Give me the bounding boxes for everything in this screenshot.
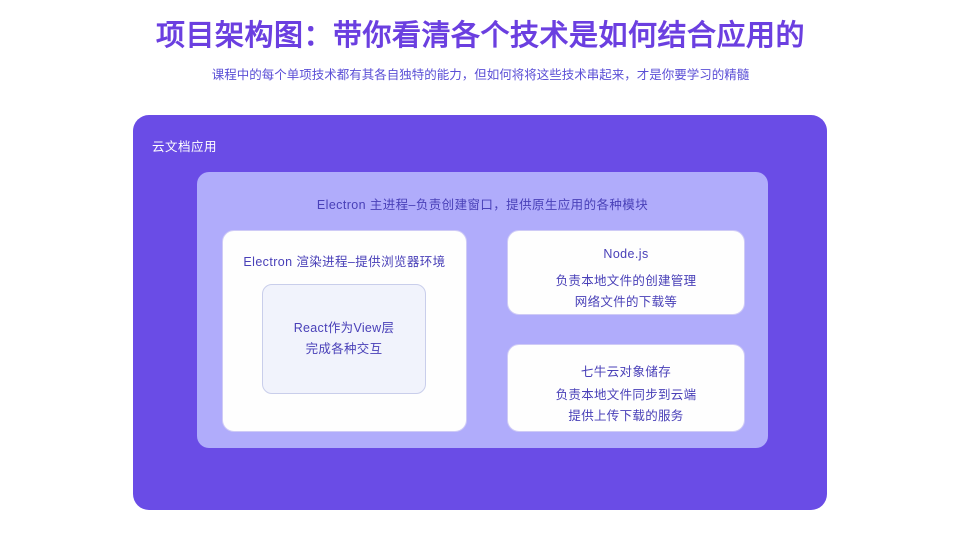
nodejs-card-body: 负责本地文件的创建管理 网络文件的下载等 [508,271,744,313]
electron-renderer-process-card: Electron 渲染进程–提供浏览器环境 React作为View层 完成各种交… [222,230,467,432]
app-frame-cloud-document: 云文档应用 Electron 主进程–负责创建窗口，提供原生应用的各种模块 El… [133,115,827,510]
qiniu-cloud-storage-line-1: 负责本地文件同步到云端 [508,385,744,406]
nodejs-card: Node.js 负责本地文件的创建管理 网络文件的下载等 [507,230,745,315]
react-view-layer-line-1: React作为View层 [294,318,395,339]
qiniu-cloud-storage-card: 七牛云对象储存 负责本地文件同步到云端 提供上传下载的服务 [507,344,745,432]
page-title: 项目架构图：带你看清各个技术是如何结合应用的 [0,16,961,56]
page-header: 项目架构图：带你看清各个技术是如何结合应用的 课程中的每个单项技术都有其各自独特… [0,0,961,86]
electron-main-process-panel: Electron 主进程–负责创建窗口，提供原生应用的各种模块 Electron… [197,172,768,448]
nodejs-card-line-2: 网络文件的下载等 [508,292,744,313]
app-frame-label: 云文档应用 [152,136,217,155]
nodejs-card-line-1: 负责本地文件的创建管理 [508,271,744,292]
nodejs-card-title: Node.js [508,247,744,261]
qiniu-cloud-storage-title: 七牛云对象储存 [508,361,744,380]
electron-main-process-label: Electron 主进程–负责创建窗口，提供原生应用的各种模块 [197,194,768,213]
qiniu-cloud-storage-line-2: 提供上传下载的服务 [508,406,744,427]
page-subtitle: 课程中的每个单项技术都有其各自独特的能力，但如何将将这些技术串起来，才是你要学习… [0,64,961,86]
react-view-layer-box: React作为View层 完成各种交互 [262,284,426,394]
qiniu-cloud-storage-body: 负责本地文件同步到云端 提供上传下载的服务 [508,385,744,427]
electron-renderer-process-label: Electron 渲染进程–提供浏览器环境 [223,251,466,270]
react-view-layer-line-2: 完成各种交互 [306,339,383,360]
